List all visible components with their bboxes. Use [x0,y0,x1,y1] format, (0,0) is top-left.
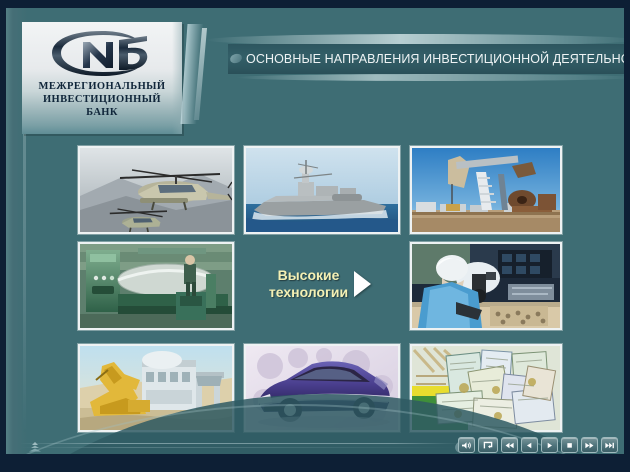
media-controls[interactable] [458,437,618,453]
logo-line-3: БАНК [22,106,182,119]
presentation-slide: ОСНОВНЫЕ НАПРАВЛЕНИЯ ИНВЕСТИЦИОННОЙ ДЕЯТ… [0,0,630,472]
play-icon[interactable] [541,437,558,453]
rewind-icon[interactable] [501,437,518,453]
photo-warship[interactable] [244,146,400,234]
stop-icon[interactable] [561,437,578,453]
logo-line-2: ИНВЕСТИЦИОННЫЙ [22,93,182,106]
bank-logo-mark [43,28,161,80]
center-label: Высокие технологии [269,267,348,301]
pyramid-icon [28,442,42,452]
banner-bottom-swoosh [236,74,624,81]
photo-helicopters[interactable] [78,146,234,234]
bank-logo-wordmark: МЕЖРЕГИОНАЛЬНЫЙ ИНВЕСТИЦИОННЫЙ БАНК [22,80,182,119]
image-grid: Высокие технологии [78,146,558,428]
previous-icon[interactable] [521,437,538,453]
skip-end-icon[interactable] [601,437,618,453]
slide-stage: ОСНОВНЫЕ НАПРАВЛЕНИЯ ИНВЕСТИЦИОННОЙ ДЕЯТ… [6,8,624,456]
repeat-icon[interactable] [478,437,498,453]
control-bar-rule-2 [20,447,460,448]
photo-machine-tool[interactable] [78,242,234,330]
center-label-tile: Высокие технологии [244,242,396,326]
center-label-line-2: технологии [269,284,348,300]
photo-electronics-lab[interactable] [410,242,562,330]
fast-forward-icon[interactable] [581,437,598,453]
bank-logo-panel: МЕЖРЕГИОНАЛЬНЫЙ ИНВЕСТИЦИОННЫЙ БАНК [22,22,182,134]
play-arrow-right-icon [354,271,371,297]
volume-icon[interactable] [458,437,475,453]
control-bar-rule [20,443,460,444]
logo-line-1: МЕЖРЕГИОНАЛЬНЫЙ [22,80,182,93]
center-label-line-1: Высокие [278,267,340,283]
slide-bottom-frame [0,454,630,472]
photo-oil-pumpjack[interactable] [410,146,562,234]
page-title: ОСНОВНЫЕ НАПРАВЛЕНИЯ ИНВЕСТИЦИОННОЙ ДЕЯТ… [246,50,624,68]
